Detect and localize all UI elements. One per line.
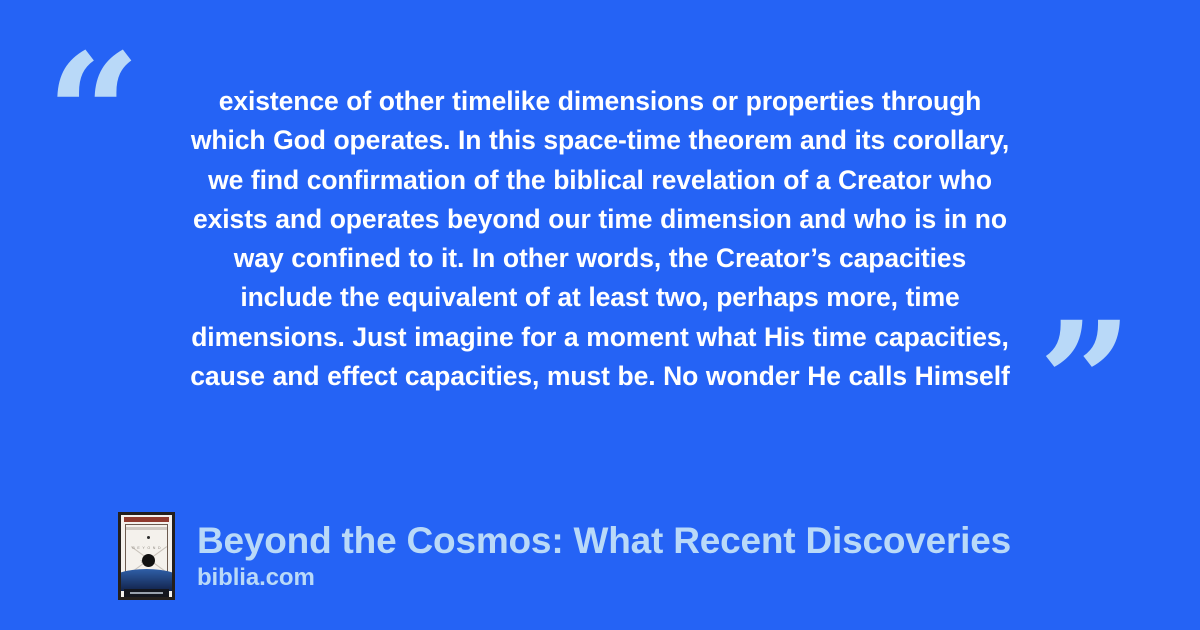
footer-text-stack: Beyond the Cosmos: What Recent Discoveri…: [197, 520, 1011, 592]
quote-line: dimensions. Just imagine for a moment wh…: [100, 318, 1100, 357]
cover-small-dot: [147, 536, 150, 539]
quote-line: which God operates. In this space-time t…: [100, 121, 1100, 160]
quote-line: exists and operates beyond our time dime…: [100, 200, 1100, 239]
book-cover-thumbnail: BEYOND THE COSMOS: [118, 512, 175, 600]
cover-title-word: BEYOND: [121, 546, 172, 550]
cover-author-text: [130, 592, 163, 594]
attribution-footer: BEYOND THE COSMOS Beyond the Cosmos: Wha…: [118, 510, 1011, 602]
quote-line: cause and effect capacities, must be. No…: [100, 357, 1100, 396]
quote-line: we find confirmation of the biblical rev…: [100, 161, 1100, 200]
cover-sphere-icon: [142, 554, 155, 567]
quote-line: existence of other timelike dimensions o…: [100, 82, 1100, 121]
quote-card: “ existence of other timelike dimensions…: [0, 0, 1200, 630]
closing-quote-icon: ”: [1038, 300, 1133, 465]
quote-line: way confined to it. In other words, the …: [100, 239, 1100, 278]
book-title[interactable]: Beyond the Cosmos: What Recent Discoveri…: [197, 520, 1011, 562]
site-name[interactable]: biblia.com: [197, 564, 1011, 592]
cover-planet-icon: [118, 569, 175, 591]
quote-line: include the equivalent of at least two, …: [100, 278, 1100, 317]
cover-top-band: [124, 517, 169, 522]
quote-text: existence of other timelike dimensions o…: [100, 82, 1100, 396]
quote-block: “ existence of other timelike dimensions…: [0, 40, 1200, 420]
